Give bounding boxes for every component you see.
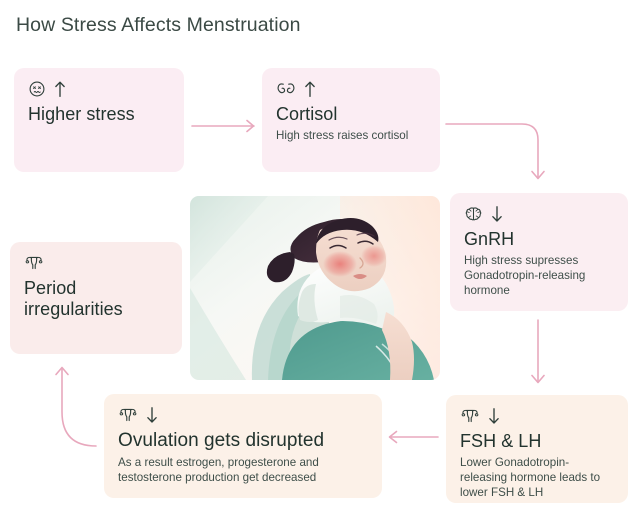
card-icon-row bbox=[24, 254, 168, 272]
up-arrow-icon bbox=[303, 80, 317, 98]
card-ovulation-disrupted: Ovulation gets disrupted As a result est… bbox=[104, 394, 382, 498]
card-fsh-lh: FSH & LH Lower Gonadotropin-releasing ho… bbox=[446, 395, 628, 503]
up-arrow-icon bbox=[53, 80, 67, 98]
card-title: Period irregularities bbox=[24, 278, 168, 320]
card-title: Cortisol bbox=[276, 104, 426, 125]
card-icon-row bbox=[460, 407, 614, 425]
arrow-fshlh-to-ovulation bbox=[390, 432, 439, 443]
down-arrow-icon bbox=[145, 406, 159, 424]
brain-icon bbox=[464, 205, 483, 223]
card-description: High stress supresses Gonadotropin-relea… bbox=[464, 253, 614, 299]
card-description: As a result estrogen, progesterone and t… bbox=[118, 455, 368, 486]
uterus-icon bbox=[118, 406, 138, 424]
page-title: How Stress Affects Menstruation bbox=[16, 14, 301, 37]
arrow-cortisol-to-gnrh bbox=[446, 124, 544, 179]
woman-leaning-back-illustration bbox=[190, 196, 440, 380]
arrow-ovulation-to-period bbox=[56, 368, 96, 447]
card-icon-row bbox=[464, 205, 614, 223]
uterus-icon bbox=[24, 254, 44, 272]
card-title: Higher stress bbox=[28, 104, 170, 125]
stressed-face-icon bbox=[28, 80, 46, 98]
card-title: Ovulation gets disrupted bbox=[118, 430, 368, 452]
card-icon-row bbox=[28, 80, 170, 98]
card-icon-row bbox=[118, 406, 368, 424]
card-period-irregularities: Period irregularities bbox=[10, 242, 182, 354]
card-gnrh: GnRH High stress supresses Gonadotropin-… bbox=[450, 193, 628, 311]
down-arrow-icon bbox=[490, 205, 504, 223]
uterus-icon bbox=[460, 407, 480, 425]
card-cortisol: Cortisol High stress raises cortisol bbox=[262, 68, 440, 172]
down-arrow-icon bbox=[487, 407, 501, 425]
card-description: High stress raises cortisol bbox=[276, 128, 426, 143]
card-title: GnRH bbox=[464, 229, 614, 250]
card-title: FSH & LH bbox=[460, 431, 614, 452]
arrow-gnrh-to-fshlh bbox=[532, 320, 544, 383]
arrow-stress-to-cortisol bbox=[192, 121, 254, 132]
card-description: Lower Gonadotropin-releasing hormone lea… bbox=[460, 455, 614, 501]
card-higher-stress: Higher stress bbox=[14, 68, 184, 172]
card-icon-row bbox=[276, 80, 426, 98]
adrenal-glands-icon bbox=[276, 80, 296, 98]
